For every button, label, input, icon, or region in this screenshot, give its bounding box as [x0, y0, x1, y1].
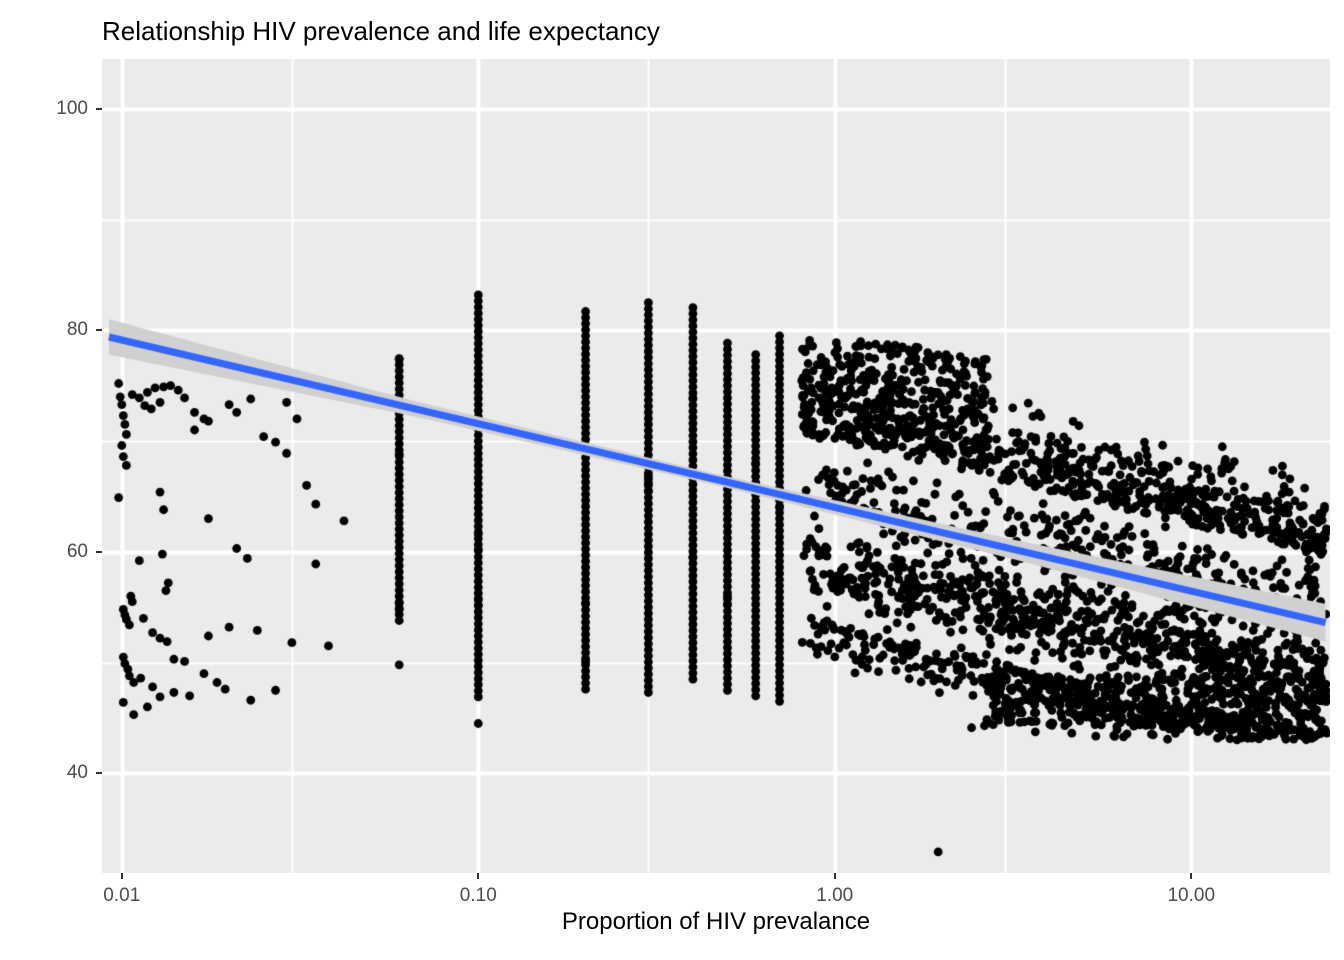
x-tick-mark-0.10 — [477, 873, 479, 879]
plot-panel — [102, 59, 1330, 873]
x-axis-title: Proportion of HIV prevalance — [102, 908, 1330, 936]
x-tick-label-1.00: 1.00 — [775, 885, 895, 907]
y-tick-label-80: 80 — [8, 319, 88, 341]
x-tick-mark-0.01 — [121, 873, 123, 879]
x-tick-mark-1.00 — [834, 873, 836, 879]
x-tick-mark-10.00 — [1190, 873, 1192, 879]
y-tick-label-40: 40 — [8, 762, 88, 784]
y-tick-label-100: 100 — [8, 98, 88, 120]
chart-figure: Relationship HIV prevalence and life exp… — [0, 0, 1344, 960]
x-tick-label-0.01: 0.01 — [62, 885, 182, 907]
scatter-plot-canvas — [102, 59, 1330, 873]
y-tick-label-60: 60 — [8, 541, 88, 563]
chart-title: Relationship HIV prevalence and life exp… — [102, 16, 660, 47]
x-tick-label-0.10: 0.10 — [418, 885, 538, 907]
x-tick-label-10.00: 10.00 — [1131, 885, 1251, 907]
